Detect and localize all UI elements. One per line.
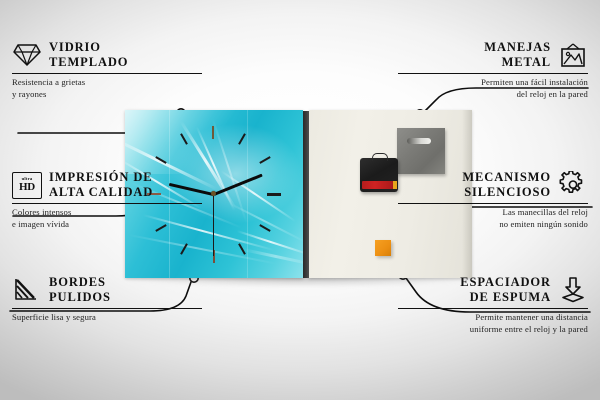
feature-description: Permite mantener una distancia uniforme … bbox=[398, 312, 588, 336]
clock-tick bbox=[212, 126, 214, 139]
feature-title: IMPRESIÓN DE ALTA CALIDAD bbox=[49, 170, 153, 200]
feature-description: Permiten una fácil instalación del reloj… bbox=[398, 77, 588, 101]
feature-heading: MECANISMO SILENCIOSO bbox=[398, 170, 588, 200]
feature-heading: MANEJAS METAL bbox=[398, 40, 588, 70]
feature-heading: VIDRIO TEMPLADO bbox=[12, 40, 202, 70]
feature-heading: ultra HD IMPRESIÓN DE ALTA CALIDAD bbox=[12, 170, 202, 200]
spacer-arrow-icon bbox=[558, 275, 588, 305]
mechanism-hook bbox=[372, 153, 388, 161]
feature-divider bbox=[12, 73, 202, 74]
feature-title: VIDRIO TEMPLADO bbox=[49, 40, 128, 70]
feature-mecanismo-silencioso: MECANISMO SILENCIOSO Las manecillas del … bbox=[398, 170, 588, 231]
feature-bordes-pulidos: BORDES PULIDOS Superficie lisa y segura bbox=[12, 275, 202, 324]
quartz-mechanism bbox=[360, 158, 398, 192]
polished-edges-icon bbox=[12, 275, 42, 305]
clock-tick bbox=[267, 193, 281, 196]
clock-hand-cap bbox=[211, 191, 216, 196]
feature-espaciador-espuma: ESPACIADOR DE ESPUMA Permite mantener un… bbox=[398, 275, 588, 336]
feature-title: MECANISMO SILENCIOSO bbox=[462, 170, 551, 200]
diamond-icon bbox=[12, 40, 42, 70]
wall-frame-icon bbox=[558, 40, 588, 70]
battery-terminal bbox=[393, 181, 397, 189]
feature-title: BORDES PULIDOS bbox=[49, 275, 111, 305]
hanger-keyhole-slot bbox=[407, 138, 431, 144]
feature-description: Colores intensos e imagen vívida bbox=[12, 207, 202, 231]
clock-tick bbox=[259, 224, 270, 232]
feature-title: MANEJAS METAL bbox=[484, 40, 551, 70]
glass-seam-2 bbox=[247, 110, 248, 278]
feature-heading: BORDES PULIDOS bbox=[12, 275, 202, 305]
feature-divider bbox=[12, 203, 202, 204]
glass-glare bbox=[125, 110, 235, 174]
feature-divider bbox=[398, 73, 588, 74]
clock-tick bbox=[259, 156, 270, 164]
metal-hanger-plate bbox=[397, 128, 445, 174]
battery bbox=[362, 181, 394, 189]
feature-title: ESPACIADOR DE ESPUMA bbox=[460, 275, 551, 305]
feature-divider bbox=[398, 203, 588, 204]
feature-description: Resistencia a grietas y rayones bbox=[12, 77, 202, 101]
infographic-canvas: VIDRIO TEMPLADO Resistencia a grietas y … bbox=[0, 0, 600, 400]
feature-divider bbox=[12, 308, 202, 309]
feature-divider bbox=[398, 308, 588, 309]
clock-second-hand bbox=[213, 194, 214, 256]
feature-vidrio-templado: VIDRIO TEMPLADO Resistencia a grietas y … bbox=[12, 40, 202, 101]
feature-manejas-metal: MANEJAS METAL Permiten una fácil instala… bbox=[398, 40, 588, 101]
clock-tick bbox=[238, 133, 246, 144]
feature-description: Las manecillas del reloj no emiten ningú… bbox=[398, 207, 588, 231]
foam-spacer-pad bbox=[375, 240, 391, 256]
ultra-hd-icon: ultra HD bbox=[12, 170, 42, 200]
feature-impresion-alta-calidad: ultra HD IMPRESIÓN DE ALTA CALIDAD Color… bbox=[12, 170, 202, 231]
feature-heading: ESPACIADOR DE ESPUMA bbox=[398, 275, 588, 305]
feature-description: Superficie lisa y segura bbox=[12, 312, 202, 324]
gear-icon bbox=[558, 170, 588, 200]
